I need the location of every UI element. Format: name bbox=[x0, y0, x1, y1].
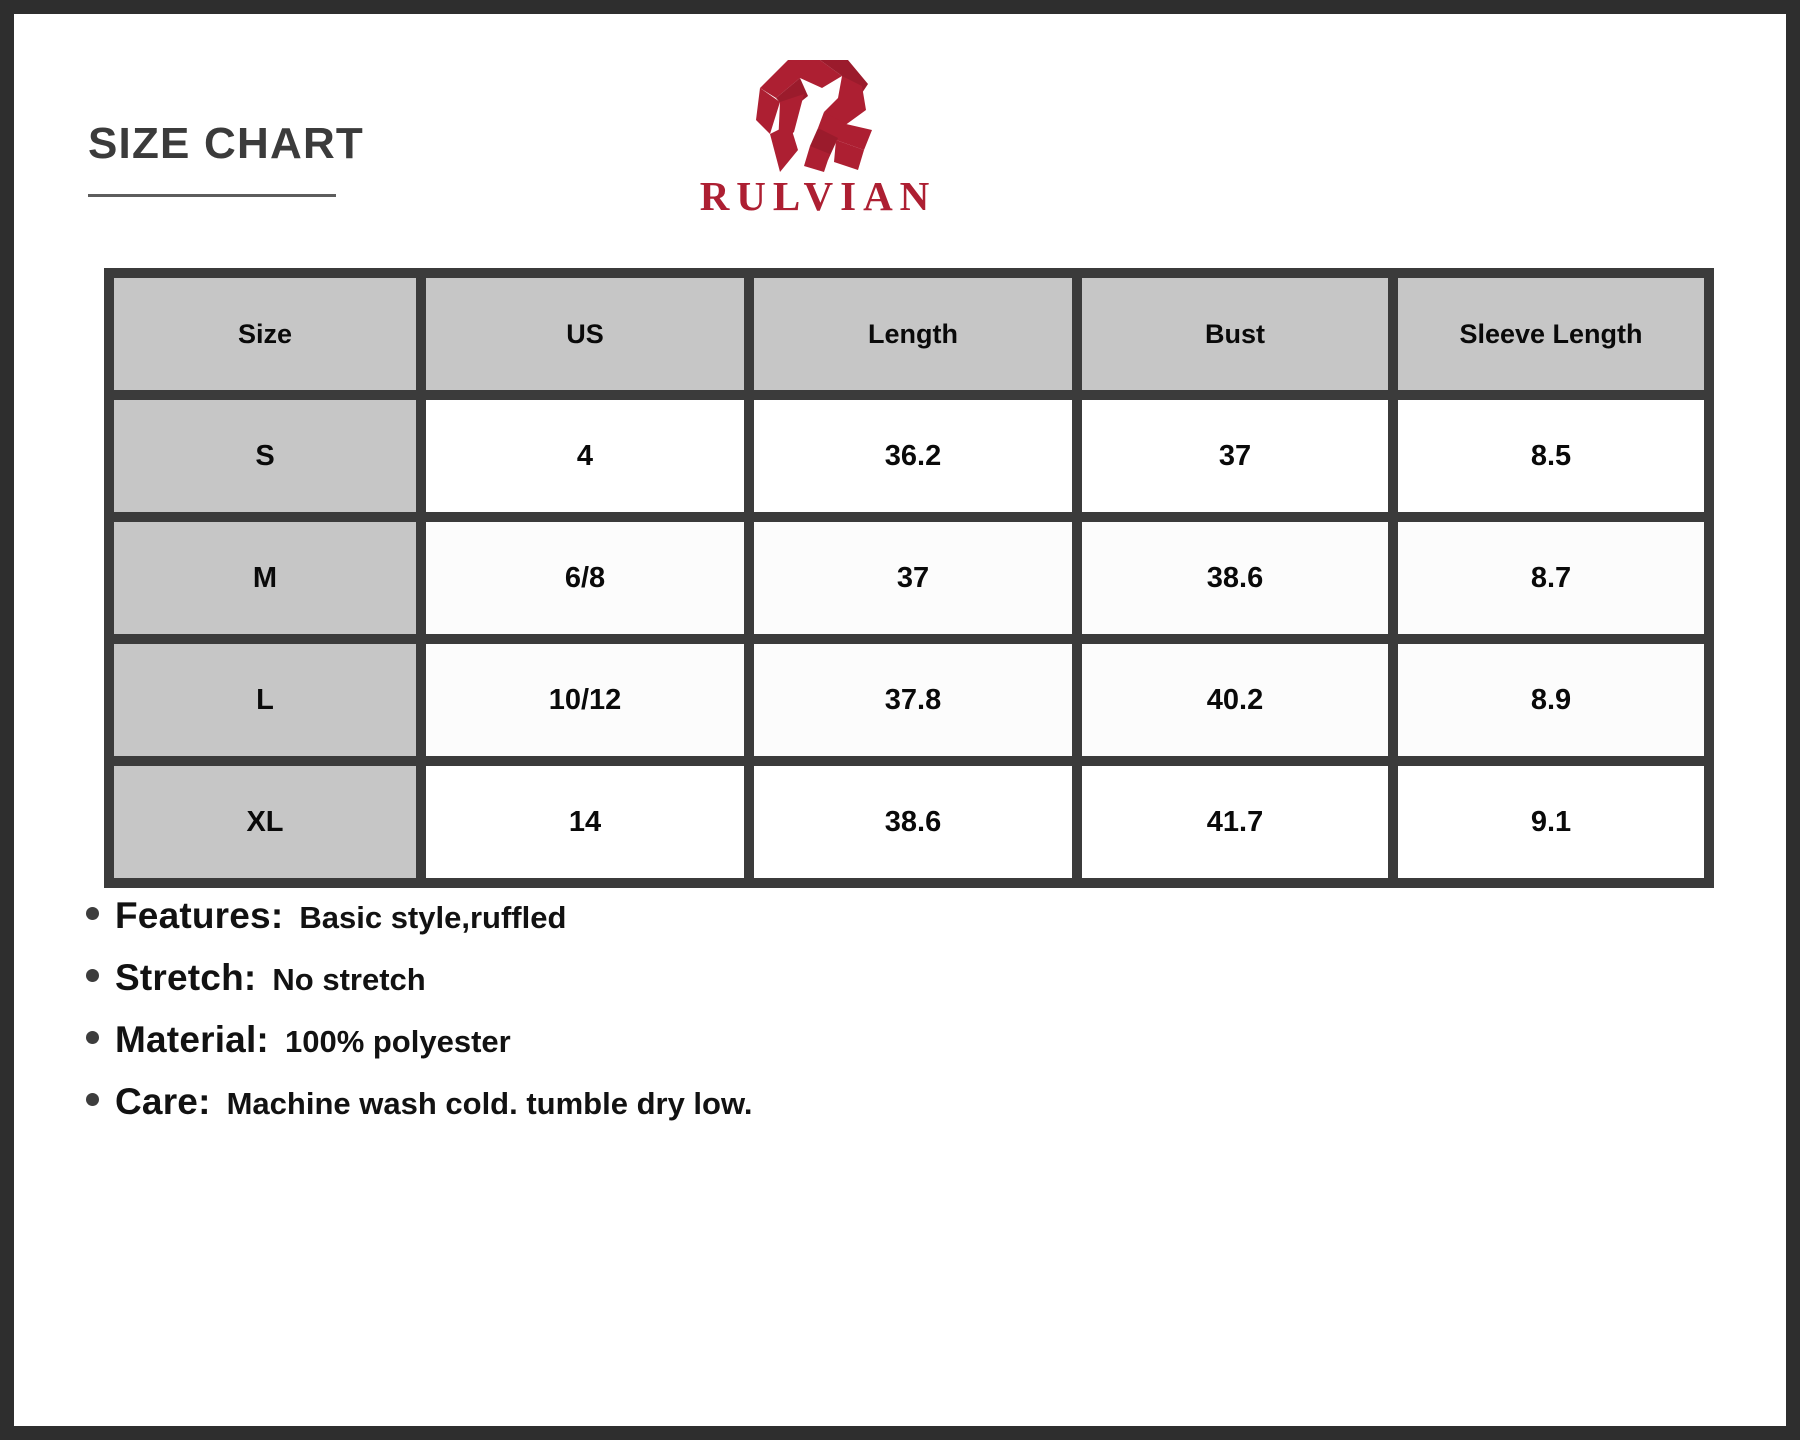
size-table-wrapper: Size US Length Bust Sleeve Length S 4 36… bbox=[104, 268, 1700, 888]
column-header-sleeve: Sleeve Length bbox=[1398, 278, 1704, 390]
cell-bust-m: 38.6 bbox=[1082, 522, 1388, 634]
detail-label-stretch: Stretch: bbox=[115, 957, 256, 999]
detail-label-care: Care: bbox=[115, 1081, 211, 1123]
cell-sleeve-length-xl: 9.1 bbox=[1398, 766, 1704, 878]
title-underline-divider bbox=[88, 194, 336, 197]
page-title: SIZE CHART bbox=[88, 122, 364, 166]
bullet-icon bbox=[86, 969, 99, 982]
size-chart-table: Size US Length Bust Sleeve Length S 4 36… bbox=[104, 268, 1714, 888]
column-header-size: Size bbox=[114, 278, 416, 390]
bullet-icon bbox=[86, 1031, 99, 1044]
cell-length-s: 36.2 bbox=[754, 400, 1072, 512]
column-header-bust: Bust bbox=[1082, 278, 1388, 390]
list-item: Care: Machine wash cold. tumble dry low. bbox=[86, 1081, 1646, 1123]
cell-size-xl: XL bbox=[114, 766, 416, 878]
list-item: Features: Basic style,ruffled bbox=[86, 895, 1646, 937]
table-row: S 4 36.2 37 8.5 bbox=[114, 400, 1704, 512]
cell-length-l: 37.8 bbox=[754, 644, 1072, 756]
page-border-bottom bbox=[0, 1426, 1800, 1440]
table-row: L 10/12 37.8 40.2 8.9 bbox=[114, 644, 1704, 756]
detail-value-material: 100% polyester bbox=[285, 1024, 511, 1060]
cell-us-m: 6/8 bbox=[426, 522, 744, 634]
detail-label-features: Features: bbox=[115, 895, 283, 937]
list-item: Stretch: No stretch bbox=[86, 957, 1646, 999]
cell-bust-xl: 41.7 bbox=[1082, 766, 1388, 878]
cell-sleeve-length-l: 8.9 bbox=[1398, 644, 1704, 756]
column-header-us: US bbox=[426, 278, 744, 390]
cell-size-s: S bbox=[114, 400, 416, 512]
cell-sleeve-length-m: 8.7 bbox=[1398, 522, 1704, 634]
column-header-length: Length bbox=[754, 278, 1072, 390]
cell-bust-l: 40.2 bbox=[1082, 644, 1388, 756]
cell-size-l: L bbox=[114, 644, 416, 756]
detail-value-care: Machine wash cold. tumble dry low. bbox=[227, 1086, 753, 1122]
cell-length-xl: 38.6 bbox=[754, 766, 1072, 878]
cell-sleeve-length-s: 8.5 bbox=[1398, 400, 1704, 512]
detail-label-material: Material: bbox=[115, 1019, 269, 1061]
table-row: XL 14 38.6 41.7 9.1 bbox=[114, 766, 1704, 878]
bullet-icon bbox=[86, 907, 99, 920]
brand-name: RULVIAN bbox=[668, 172, 968, 220]
detail-value-features: Basic style,ruffled bbox=[299, 900, 566, 936]
page-border-top bbox=[0, 0, 1800, 14]
brand-logo: RULVIAN bbox=[668, 54, 968, 230]
table-header-row: Size US Length Bust Sleeve Length bbox=[114, 278, 1704, 390]
title-block: SIZE CHART bbox=[88, 122, 364, 197]
size-chart-page: SIZE CHART R bbox=[0, 0, 1800, 1440]
cell-us-s: 4 bbox=[426, 400, 744, 512]
cell-size-m: M bbox=[114, 522, 416, 634]
page-header: SIZE CHART R bbox=[0, 14, 1800, 226]
cell-bust-s: 37 bbox=[1082, 400, 1388, 512]
table-row: M 6/8 37 38.6 8.7 bbox=[114, 522, 1704, 634]
detail-value-stretch: No stretch bbox=[272, 962, 425, 998]
cell-us-l: 10/12 bbox=[426, 644, 744, 756]
list-item: Material: 100% polyester bbox=[86, 1019, 1646, 1061]
product-details-list: Features: Basic style,ruffled Stretch: N… bbox=[86, 895, 1646, 1143]
cell-length-m: 37 bbox=[754, 522, 1072, 634]
angular-r-monogram-icon bbox=[716, 54, 876, 174]
bullet-icon bbox=[86, 1093, 99, 1106]
cell-us-xl: 14 bbox=[426, 766, 744, 878]
